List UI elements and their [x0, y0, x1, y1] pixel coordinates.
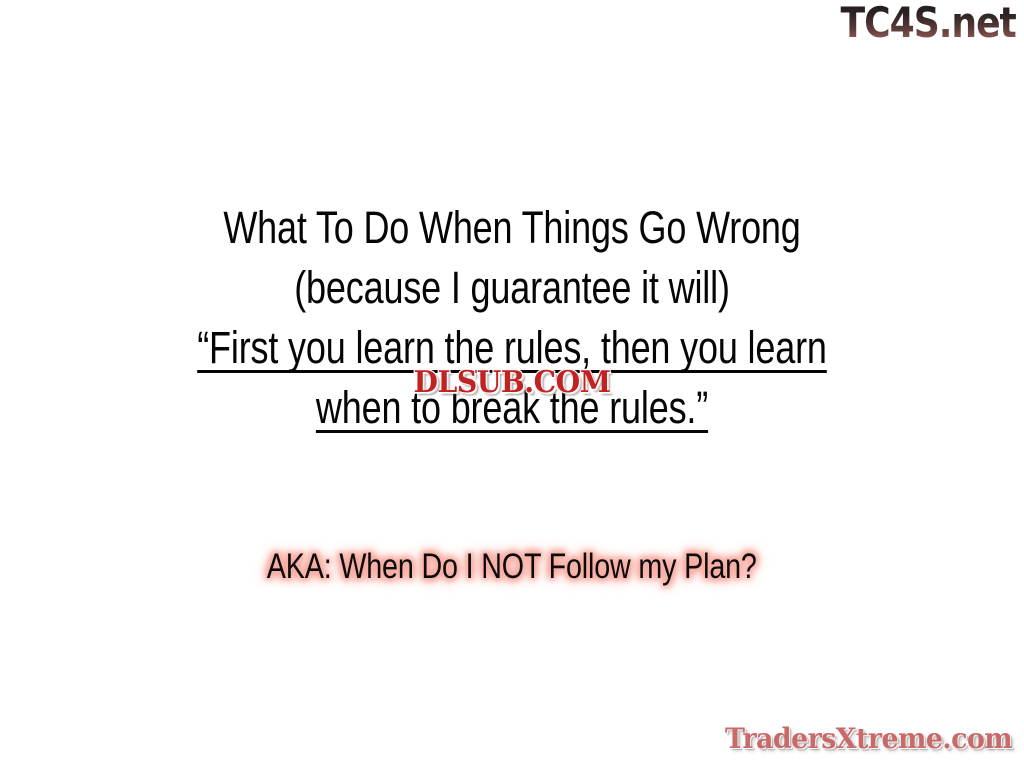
tc4s-brand-watermark: TC4S.net: [841, 2, 1016, 45]
dlsub-site-watermark: DLSUB.COM: [414, 366, 611, 400]
slide-subheading-text: AKA: When Do I NOT Follow my Plan?: [267, 545, 757, 589]
presentation-slide: TC4S.net What To Do When Things Go Wrong…: [0, 0, 1024, 768]
tradersxtreme-brand-watermark: TradersXtreme.com: [725, 722, 1012, 756]
slide-subheading: AKA: When Do I NOT Follow my Plan?: [0, 545, 1024, 589]
body-line-2: (because I guarantee it will): [102, 258, 921, 318]
body-line-1: What To Do When Things Go Wrong: [102, 198, 921, 258]
slide-body-text: What To Do When Things Go Wrong (because…: [0, 198, 1024, 438]
